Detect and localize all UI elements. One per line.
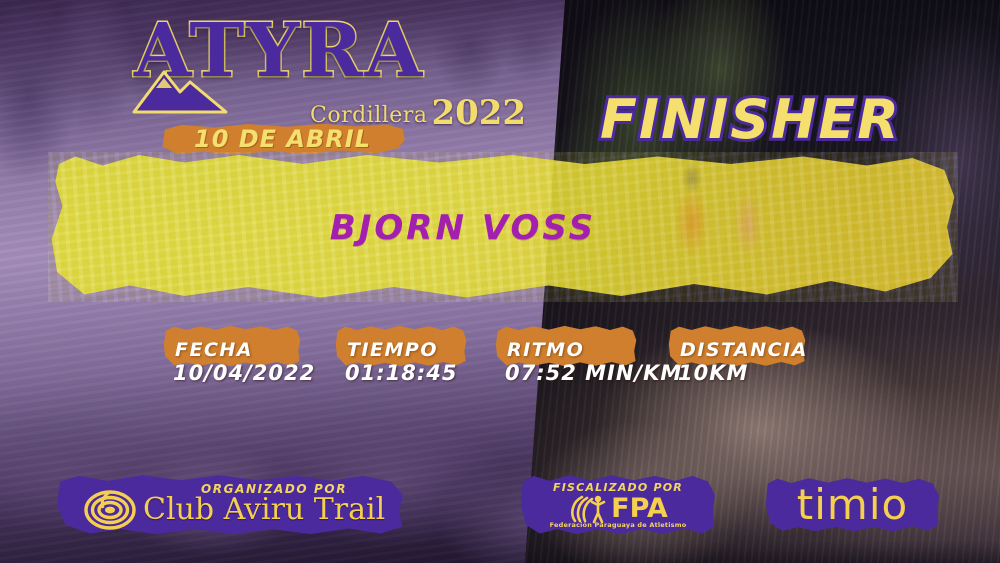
athlete-name-band: BJORN VOSS <box>48 152 958 302</box>
sponsor-timing: timio <box>765 477 940 533</box>
event-date-banner: 10 DE ABRIL <box>160 122 405 156</box>
stats-row: FECHA 10/04/2022 TIEMPO 01:18:45 RITMO 0… <box>0 325 1000 387</box>
mountain-icon <box>130 66 230 114</box>
stat-tiempo: TIEMPO 01:18:45 <box>335 325 467 387</box>
event-year: 2022 <box>431 98 526 128</box>
event-logo: ATYRA Cordillera 2022 10 DE ABRIL <box>120 14 420 144</box>
timing-name: timio <box>765 483 940 527</box>
stat-label: FECHA <box>175 339 253 361</box>
stat-label: RITMO <box>507 339 584 361</box>
organizer-name: Club Aviru Trail <box>143 492 385 527</box>
stat-label: DISTANCIA <box>680 339 808 361</box>
stat-fecha: FECHA 10/04/2022 <box>163 325 301 387</box>
stat-value: 10/04/2022 <box>173 361 315 385</box>
fpa-subtitle: Federación Paraguaya de Atletismo <box>520 521 716 529</box>
fpa-acronym: FPA <box>611 495 668 523</box>
stat-value: 10KM <box>678 361 748 385</box>
stat-label: TIEMPO <box>347 339 438 361</box>
event-date-text: 10 DE ABRIL <box>194 125 371 153</box>
stat-value: 01:18:45 <box>345 361 457 385</box>
sponsor-sanctioning: FISCALIZADO POR FPA Federación Paraguaya… <box>520 474 716 536</box>
stat-value: 07:52 MIN/KM <box>505 361 682 385</box>
sponsor-organizer: ORGANIZADO POR Club Aviru Trail <box>55 474 405 536</box>
spiral-icon <box>83 488 139 530</box>
finisher-badge: FINISHER <box>600 93 901 147</box>
fpa-runner-icon <box>568 494 610 524</box>
athlete-name: BJORN VOSS <box>8 208 918 248</box>
fpa-logo: FPA <box>520 494 716 524</box>
stat-distancia: DISTANCIA 10KM <box>668 325 806 387</box>
finisher-certificate: ATYRA Cordillera 2022 10 DE ABRIL FINISH… <box>0 0 1000 563</box>
stat-ritmo: RITMO 07:52 MIN/KM <box>495 325 637 387</box>
